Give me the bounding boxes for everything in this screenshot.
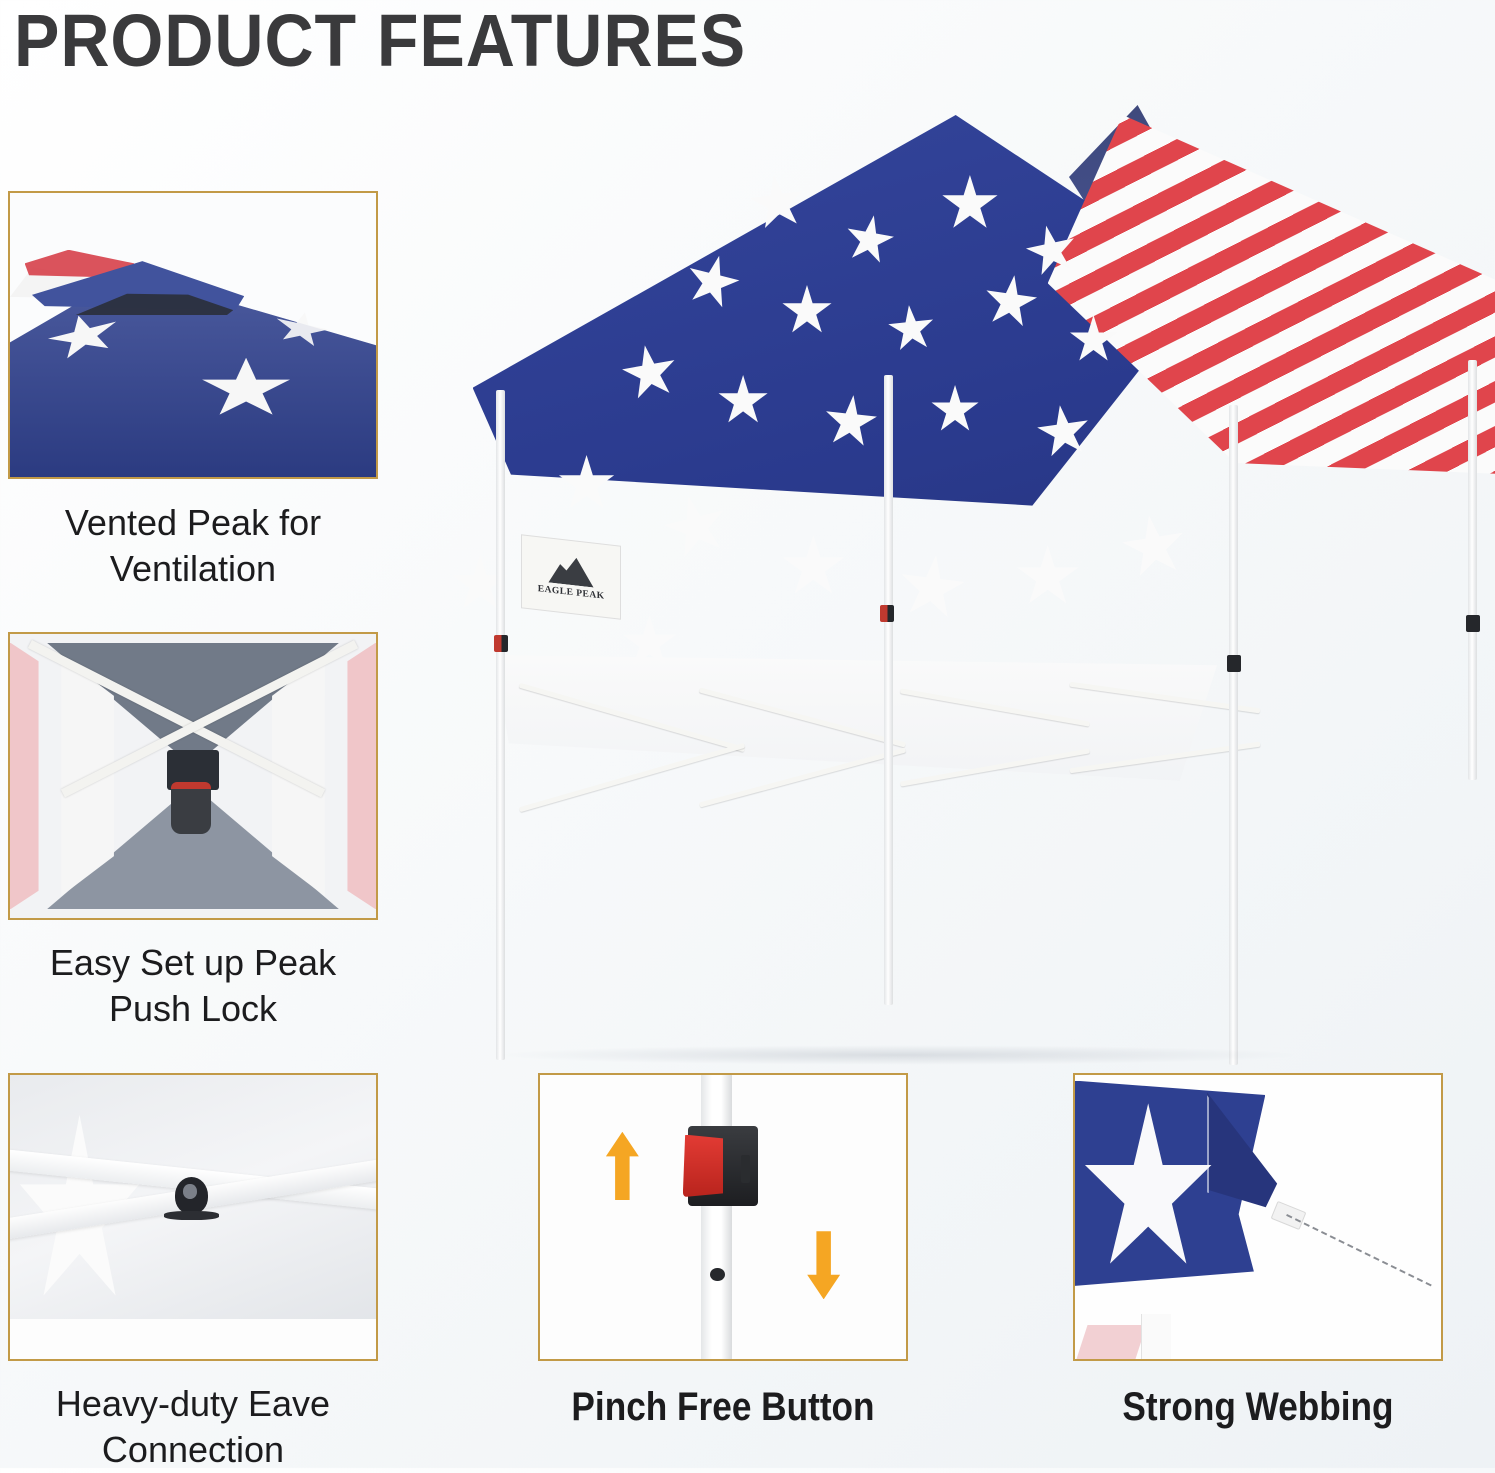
canopy-red-white-stripe-panel (1048, 115, 1495, 695)
canopy-eave-frame (494, 655, 1240, 825)
brand-logo-text: EAGLE PEAK (537, 583, 604, 601)
red-lever-button (683, 1135, 723, 1197)
feature-caption-pinch-free-button: Pinch Free Button (560, 1383, 886, 1431)
mountain-icon (548, 554, 593, 588)
canopy-leg (1229, 405, 1238, 1065)
ground-shadow (494, 1045, 1303, 1065)
brand-logo: EAGLE PEAK (521, 534, 621, 619)
feature-thumbnail-strong-webbing (1073, 1073, 1443, 1361)
feature-caption-strong-webbing: Strong Webbing (1095, 1383, 1421, 1431)
canopy-star (781, 535, 845, 599)
canopy-star (658, 488, 735, 566)
canopy-leg-foot (1141, 1314, 1171, 1359)
caption-line: Connection (8, 1427, 378, 1473)
peak-push-lock-button (171, 782, 211, 834)
thumb-base-strip (10, 1319, 376, 1359)
caption-line: Easy Set up Peak (8, 940, 378, 986)
feature-caption-vented-peak: Vented Peak for Ventilation (8, 500, 378, 592)
pole-rivet (710, 1268, 725, 1281)
caption-line: Push Lock (8, 986, 378, 1032)
hero-product-image: EAGLE PEAK (430, 95, 1495, 1095)
eave-connector-pin (183, 1184, 196, 1198)
canopy-leg (1468, 360, 1477, 780)
canopy-leg (496, 390, 505, 1060)
canopy-leg-pole (701, 1073, 732, 1361)
caption-line: Vented Peak for (8, 500, 378, 546)
eave-connector-plate (164, 1211, 219, 1220)
feature-caption-peak-push-lock: Easy Set up Peak Push Lock (8, 940, 378, 1032)
feature-caption-eave-connection: Heavy-duty Eave Connection (8, 1381, 378, 1473)
canopy-star (1016, 545, 1080, 609)
leg-push-lock (880, 605, 894, 622)
caption-line: Heavy-duty Eave (8, 1381, 378, 1427)
feature-thumbnail-pinch-free-button (538, 1073, 908, 1361)
page-title: PRODUCT FEATURES (14, 2, 746, 80)
feature-thumbnail-vented-peak (8, 191, 378, 479)
feature-thumbnail-eave-connection (8, 1073, 378, 1361)
caption-line: Ventilation (8, 546, 378, 592)
canopy-star (1118, 510, 1191, 583)
housing-slot (741, 1155, 750, 1183)
canopy-leg (884, 375, 893, 1005)
lower-fabric-stripe (1077, 1325, 1147, 1359)
leg-push-lock (1227, 655, 1241, 672)
leg-push-lock (1466, 615, 1480, 632)
feature-thumbnail-peak-push-lock (8, 632, 378, 920)
product-features-page: PRODUCT FEATURES EAGLE PEAK (0, 0, 1495, 1468)
canopy-star (895, 551, 969, 625)
leg-push-lock (494, 635, 508, 652)
